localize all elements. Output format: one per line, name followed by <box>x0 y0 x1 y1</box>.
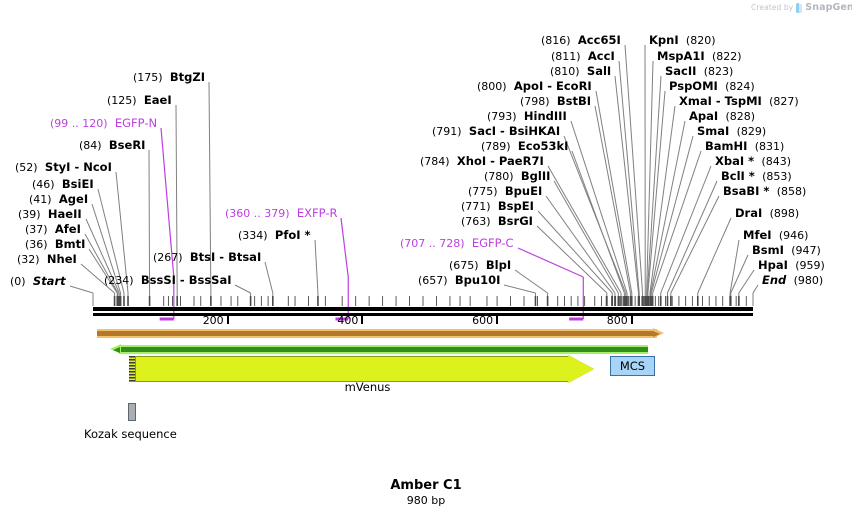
ruler-tick <box>631 316 633 324</box>
ruler-tick <box>361 316 363 324</box>
feature-mvenus-arrow[interactable] <box>129 356 606 382</box>
ruler-tick-label: 600 <box>457 314 493 327</box>
ruler-tick-label: 200 <box>188 314 224 327</box>
ruler-tick-label: 800 <box>592 314 628 327</box>
feature-orange-arrow[interactable] <box>97 329 666 338</box>
kozak-sequence-label: Kozak sequence <box>84 427 177 441</box>
plasmid-length: 980 bp <box>0 494 852 507</box>
plasmid-title: Amber C1 <box>0 478 852 493</box>
ruler-tick <box>227 316 229 324</box>
kozak-sequence-marker[interactable] <box>128 403 136 421</box>
feature-mcs-box[interactable]: MCS <box>610 356 655 376</box>
feature-mcs-label: MCS <box>620 359 645 373</box>
snapgene-sequence-map: Created by SnapGene (0) Start(32) NheI(3… <box>0 0 852 516</box>
feature-mvenus-label: mVenus <box>129 380 606 394</box>
ruler-tick <box>496 316 498 324</box>
feature-green-arrow[interactable] <box>110 345 648 354</box>
ruler-tick-label: 400 <box>322 314 358 327</box>
